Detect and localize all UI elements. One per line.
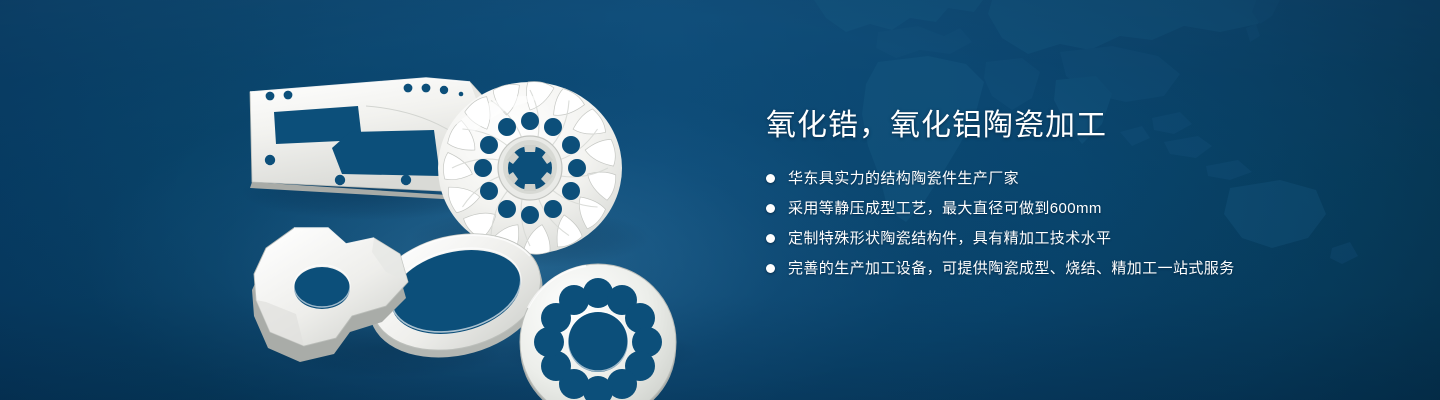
- banner-copy: 氧化锆，氧化铝陶瓷加工 华东具实力的结构陶瓷件生产厂家 采用等静压成型工艺，最大…: [766, 106, 1386, 279]
- feature-list: 华东具实力的结构陶瓷件生产厂家 采用等静压成型工艺，最大直径可做到600mm 定…: [766, 168, 1386, 279]
- bullet-dot-icon: [766, 174, 775, 183]
- feature-text: 定制特殊形状陶瓷结构件，具有精加工技术水平: [788, 228, 1111, 249]
- feature-item: 采用等静压成型工艺，最大直径可做到600mm: [766, 198, 1386, 219]
- feature-text: 华东具实力的结构陶瓷件生产厂家: [788, 168, 1019, 189]
- feature-item: 完善的生产加工设备，可提供陶瓷成型、烧结、精加工一站式服务: [766, 258, 1386, 279]
- feature-item: 定制特殊形状陶瓷结构件，具有精加工技术水平: [766, 228, 1386, 249]
- ceramic-perforated-disc: [520, 264, 676, 400]
- feature-item: 华东具实力的结构陶瓷件生产厂家: [766, 168, 1386, 189]
- banner-headline: 氧化锆，氧化铝陶瓷加工: [766, 106, 1386, 146]
- feature-text: 采用等静压成型工艺，最大直径可做到600mm: [788, 198, 1102, 219]
- bullet-dot-icon: [766, 204, 775, 213]
- feature-text: 完善的生产加工设备，可提供陶瓷成型、烧结、精加工一站式服务: [788, 258, 1235, 279]
- hero-banner: 氧化锆，氧化铝陶瓷加工 华东具实力的结构陶瓷件生产厂家 采用等静压成型工艺，最大…: [0, 0, 1440, 400]
- ceramic-products-image: [230, 40, 750, 380]
- bullet-dot-icon: [766, 234, 775, 243]
- bullet-dot-icon: [766, 264, 775, 273]
